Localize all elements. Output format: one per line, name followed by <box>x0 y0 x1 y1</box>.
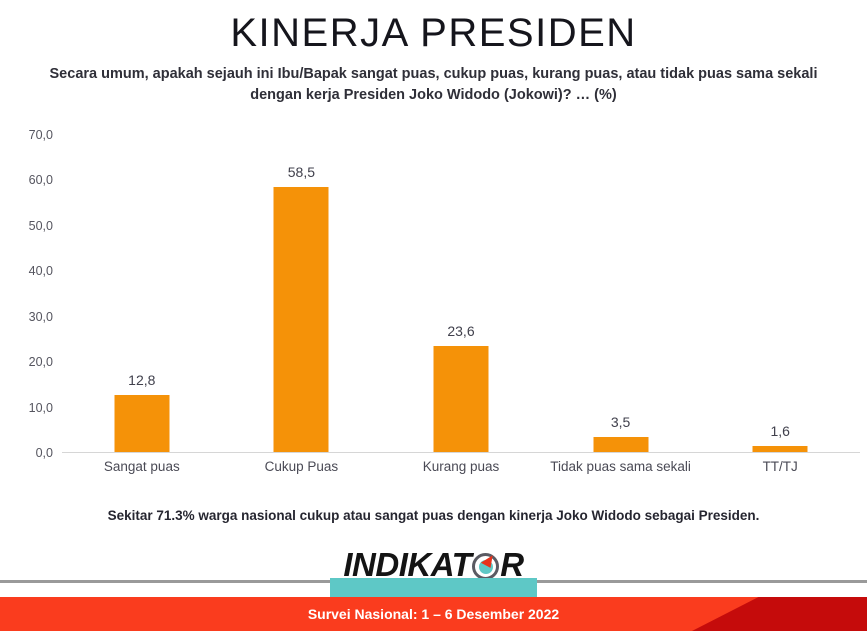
bar-slot: 23,6 <box>381 135 541 453</box>
bar-value-label: 12,8 <box>128 372 155 388</box>
bar-value-label: 58,5 <box>288 164 315 180</box>
bar-value-label: 1,6 <box>770 423 789 439</box>
y-axis-tick-label: 40,0 <box>29 264 53 278</box>
y-axis-tick-label: 20,0 <box>29 355 53 369</box>
chart-plot-area: 0,010,020,030,040,050,060,070,012,858,52… <box>62 135 860 453</box>
y-axis-tick-label: 10,0 <box>29 401 53 415</box>
x-axis-category-label: Sangat puas <box>62 459 222 474</box>
y-axis-tick-label: 70,0 <box>29 128 53 142</box>
x-axis-category-label: Cukup Puas <box>222 459 382 474</box>
bar[interactable] <box>274 187 329 453</box>
y-axis-tick-label: 50,0 <box>29 219 53 233</box>
footer-bar: Survei Nasional: 1 – 6 Desember 2022 <box>0 597 867 631</box>
bar-slot: 58,5 <box>222 135 382 453</box>
bar-slot: 12,8 <box>62 135 222 453</box>
x-axis-category-label: TT/TJ <box>700 459 860 474</box>
x-axis-category-label: Kurang puas <box>381 459 541 474</box>
x-axis-line <box>62 452 860 453</box>
target-icon <box>472 553 499 580</box>
y-axis-tick-label: 60,0 <box>29 173 53 187</box>
bar-slot: 1,6 <box>700 135 860 453</box>
y-axis-tick-label: 0,0 <box>36 446 53 460</box>
bar-value-label: 23,6 <box>447 323 474 339</box>
bar[interactable] <box>593 437 648 453</box>
bar[interactable] <box>433 346 488 453</box>
bar-slot: 3,5 <box>541 135 701 453</box>
x-axis-category-label: Tidak puas sama sekali <box>541 459 701 474</box>
y-axis-tick-label: 30,0 <box>29 310 53 324</box>
chart-subtitle: Secara umum, apakah sejauh ini Ibu/Bapak… <box>28 64 839 106</box>
page-title: KINERJA PRESIDEN <box>0 12 867 54</box>
chart-annotation: Sekitar 71.3% warga nasional cukup atau … <box>40 508 827 523</box>
bar-value-label: 3,5 <box>611 414 630 430</box>
footer-text: Survei Nasional: 1 – 6 Desember 2022 <box>0 597 867 631</box>
bar[interactable] <box>114 395 169 453</box>
